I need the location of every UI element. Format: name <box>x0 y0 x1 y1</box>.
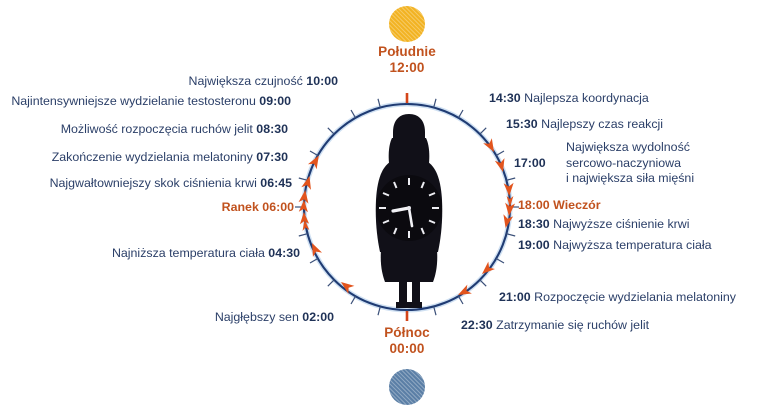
event-time: 08:30 <box>256 122 288 136</box>
event-time: 07:30 <box>256 150 288 164</box>
analog-clock-face <box>376 175 442 241</box>
event-time: 06:45 <box>260 176 292 190</box>
event-label-bp-surge: Najgwałtowniejszy skok ciśnienia krwi 06… <box>0 176 292 192</box>
event-desc: Najlepszy czas reakcji <box>541 117 663 131</box>
event-time: 02:00 <box>302 310 334 324</box>
event-desc: Największa czujność <box>189 74 303 88</box>
event-desc: Najgwałtowniejszy skok ciśnienia krwi <box>50 176 257 190</box>
clock-center-pin <box>407 206 411 210</box>
noon-label-name: Południe <box>307 44 507 60</box>
event-desc-line-1: Największa wydolność <box>514 140 764 156</box>
event-time: 15:30 <box>506 117 538 131</box>
event-desc: Najniższa temperatura ciała <box>112 246 265 260</box>
event-label-bowel-start: Możliwość rozpoczęcia ruchów jelit 08:30 <box>0 122 288 138</box>
event-desc: Rozpoczęcie wydzielania melatoniny <box>534 290 736 304</box>
event-label-bowel-stop: 22:30 Zatrzymanie się ruchów jelit <box>461 318 649 334</box>
event-desc: Zatrzymanie się ruchów jelit <box>496 318 649 332</box>
event-time: 06:00 <box>262 200 294 214</box>
event-desc: Wieczór <box>553 198 600 212</box>
event-time: 09:00 <box>259 94 291 108</box>
event-desc: Najwyższa temperatura ciała <box>553 238 711 252</box>
event-label-testosterone: Najintensywniejsze wydzielanie testoster… <box>0 94 291 110</box>
noon-label-time: 12:00 <box>307 60 507 76</box>
circadian-rhythm-diagram: Południe 12:00 Północ 00:00 <box>0 0 776 415</box>
noon-label: Południe 12:00 <box>307 44 507 75</box>
event-desc: Zakończenie wydzielania melatoniny <box>52 150 253 164</box>
event-time: 18:00 <box>518 198 550 212</box>
event-label-morning: Ranek 06:00 <box>0 200 294 216</box>
event-label-reaction: 15:30 Najlepszy czas reakcji <box>506 117 663 133</box>
event-time: 17:00 <box>514 156 546 172</box>
event-desc-line-3: i największa siła mięśni <box>514 171 764 187</box>
sun-icon <box>389 6 425 42</box>
event-time: 04:30 <box>268 246 300 260</box>
event-label-low-temp: Najniższa temperatura ciała 04:30 <box>0 246 300 262</box>
woman-silhouette-with-clock <box>368 112 450 308</box>
event-desc: Najwyższe ciśnienie krwi <box>553 217 689 231</box>
event-label-alertness: Największa czujność 10:00 <box>0 74 338 90</box>
event-label-high-temp: 19:00 Najwyższa temperatura ciała <box>518 238 712 254</box>
midnight-label-time: 00:00 <box>307 341 507 357</box>
event-label-deep-sleep: Najgłębszy sen 02:00 <box>0 310 334 326</box>
event-time: 21:00 <box>499 290 531 304</box>
event-label-melatonin-end: Zakończenie wydzielania melatoniny 07:30 <box>0 150 288 166</box>
event-label-evening: 18:00 Wieczór <box>518 198 601 214</box>
event-desc: Najlepsza koordynacja <box>524 91 649 105</box>
event-label-coordination: 14:30 Najlepsza koordynacja <box>489 91 649 107</box>
event-desc: Ranek <box>222 200 259 214</box>
event-label-melatonin-start: 21:00 Rozpoczęcie wydzielania melatoniny <box>499 290 736 306</box>
event-time: 14:30 <box>489 91 521 105</box>
event-time: 22:30 <box>461 318 493 332</box>
event-label-high-bp: 18:30 Najwyższe ciśnienie krwi <box>518 217 690 233</box>
event-time: 19:00 <box>518 238 550 252</box>
event-desc: Najgłębszy sen <box>215 310 299 324</box>
event-desc: Najintensywniejsze wydzielanie testoster… <box>11 94 256 108</box>
event-label-cardio: Największa wydolność 17:00 sercowo-naczy… <box>514 140 764 187</box>
event-time: 10:00 <box>306 74 338 88</box>
moon-icon <box>389 369 425 405</box>
event-desc: Możliwość rozpoczęcia ruchów jelit <box>61 122 253 136</box>
event-time: 18:30 <box>518 217 550 231</box>
